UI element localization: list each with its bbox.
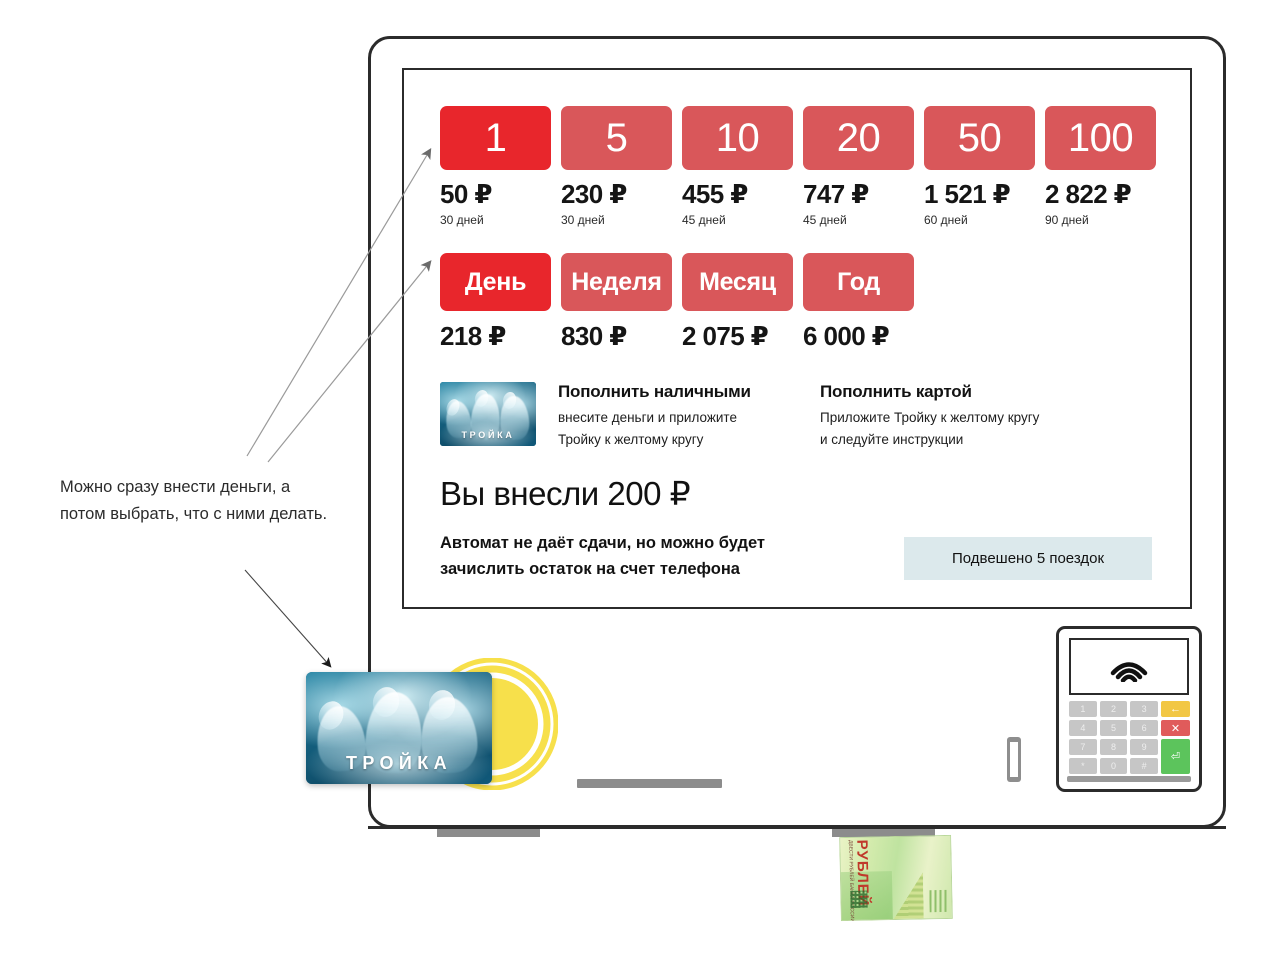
trip-ticket-validity: 60 дней <box>924 213 1045 227</box>
period-ticket-option[interactable]: Год 6 000 ₽ <box>803 253 924 352</box>
trip-ticket-price: 50 ₽ <box>440 179 561 210</box>
topup-card-line1: Приложите Тройку к желтому кругу <box>820 408 1060 428</box>
illustration-canvas: 1 50 ₽ 30 дней 5 230 ₽ 30 дней 10 455 ₽ … <box>0 0 1280 976</box>
keypad-key[interactable]: 3 <box>1130 701 1158 717</box>
keypad-key[interactable]: 0 <box>1100 758 1128 774</box>
topup-cash-title: Пополнить наличными <box>558 382 788 402</box>
notice-line-1: Автомат не даёт сдачи, но можно будет <box>440 530 765 556</box>
enter-key[interactable]: ⏎ <box>1161 739 1190 774</box>
trip-ticket-option[interactable]: 20 747 ₽ 45 дней <box>803 106 924 227</box>
bill-acceptor-slot[interactable] <box>577 779 722 788</box>
trip-ticket-validity: 30 дней <box>440 213 561 227</box>
trip-ticket-price: 230 ₽ <box>561 179 682 210</box>
period-ticket-option[interactable]: Месяц 2 075 ₽ <box>682 253 803 352</box>
topup-instructions: ТРОЙКА Пополнить наличными внесите деньг… <box>440 382 1158 449</box>
period-ticket-button[interactable]: День <box>440 253 551 311</box>
trip-ticket-option[interactable]: 100 2 822 ₽ 90 дней <box>1045 106 1166 227</box>
trip-ticket-option[interactable]: 1 50 ₽ 30 дней <box>440 106 561 227</box>
suspended-trips-badge[interactable]: Подвешено 5 поездок <box>904 537 1152 580</box>
bank-card-slot[interactable] <box>1007 737 1021 782</box>
trip-ticket-button[interactable]: 20 <box>803 106 914 170</box>
trip-ticket-validity: 90 дней <box>1045 213 1166 227</box>
keypad-key[interactable]: 5 <box>1100 720 1128 736</box>
kiosk-screen: 1 50 ₽ 30 дней 5 230 ₽ 30 дней 10 455 ₽ … <box>402 68 1192 609</box>
trip-ticket-price: 747 ₽ <box>803 179 924 210</box>
period-ticket-price: 218 ₽ <box>440 321 561 352</box>
no-change-notice: Автомат не даёт сдачи, но можно будет за… <box>440 530 765 583</box>
trip-ticket-validity: 30 дней <box>561 213 682 227</box>
arrow-to-troika-card <box>245 570 330 666</box>
topup-card-block: Пополнить картой Приложите Тройку к желт… <box>820 382 1060 449</box>
topup-cash-line1: внесите деньги и приложите <box>558 408 788 428</box>
trip-ticket-price: 1 521 ₽ <box>924 179 1045 210</box>
trip-ticket-option[interactable]: 5 230 ₽ 30 дней <box>561 106 682 227</box>
paid-total: Вы внесли 200 ₽ <box>440 474 690 513</box>
trip-ticket-row: 1 50 ₽ 30 дней 5 230 ₽ 30 дней 10 455 ₽ … <box>440 106 1158 227</box>
trip-ticket-button[interactable]: 100 <box>1045 106 1156 170</box>
trip-ticket-option[interactable]: 50 1 521 ₽ 60 дней <box>924 106 1045 227</box>
pin-keypad[interactable]: 1 2 3 4 5 6 7 8 9 * 0 # ← ✕ ⏎ <box>1069 701 1190 774</box>
period-ticket-row: День 218 ₽ Неделя 830 ₽ Месяц 2 075 ₽ Го… <box>440 253 1158 352</box>
topup-card-title: Пополнить картой <box>820 382 1060 402</box>
period-ticket-price: 2 075 ₽ <box>682 321 803 352</box>
trip-ticket-button[interactable]: 50 <box>924 106 1035 170</box>
troika-card[interactable]: ТРОЙКА <box>306 672 492 784</box>
trip-ticket-button[interactable]: 1 <box>440 106 551 170</box>
period-ticket-option[interactable]: День 218 ₽ <box>440 253 561 352</box>
annotation-caption: Можно сразу внести деньги, а потом выбра… <box>60 474 330 527</box>
keypad-key[interactable]: 4 <box>1069 720 1097 736</box>
backspace-key[interactable]: ← <box>1161 701 1190 717</box>
troika-card-label: ТРОЙКА <box>306 753 492 774</box>
trip-ticket-button[interactable]: 5 <box>561 106 672 170</box>
banknote-200-rub: 200 РУБЛЕЙ ДВЕСТИ РУБЛЕЙ БАНКА РОССИИ <box>839 835 953 921</box>
keypad-key[interactable]: 9 <box>1130 739 1158 755</box>
keypad-key[interactable]: 6 <box>1130 720 1158 736</box>
period-ticket-price: 830 ₽ <box>561 321 682 352</box>
keypad-key[interactable]: * <box>1069 758 1097 774</box>
trip-ticket-button[interactable]: 10 <box>682 106 793 170</box>
topup-cash-line2: Тройку к желтому кругу <box>558 430 788 450</box>
troika-card-area: ТРОЙКА <box>306 672 556 797</box>
banknote-word: РУБЛЕЙ ДВЕСТИ РУБЛЕЙ БАНКА РОССИИ <box>847 840 872 922</box>
period-ticket-option[interactable]: Неделя 830 ₽ <box>561 253 682 352</box>
keypad-key[interactable]: # <box>1130 758 1158 774</box>
reader-display <box>1069 638 1189 695</box>
keypad-key[interactable]: 7 <box>1069 739 1097 755</box>
cancel-key[interactable]: ✕ <box>1161 720 1190 736</box>
period-ticket-button[interactable]: Год <box>803 253 914 311</box>
topup-card-line2: и следуйте инструкции <box>820 430 1060 450</box>
troika-wordmark: ТРОЙКА <box>440 430 536 440</box>
troika-card-thumbnail: ТРОЙКА <box>440 382 536 446</box>
trip-ticket-validity: 45 дней <box>803 213 924 227</box>
keypad-key[interactable]: 8 <box>1100 739 1128 755</box>
trip-ticket-price: 455 ₽ <box>682 179 803 210</box>
kiosk-base-foot-left <box>437 829 540 837</box>
trip-ticket-option[interactable]: 10 455 ₽ 45 дней <box>682 106 803 227</box>
reader-base <box>1067 776 1191 782</box>
topup-cash-block: Пополнить наличными внесите деньги и при… <box>558 382 788 449</box>
trip-ticket-price: 2 822 ₽ <box>1045 179 1166 210</box>
card-reader-terminal[interactable]: 1 2 3 4 5 6 7 8 9 * 0 # ← ✕ ⏎ <box>1056 626 1202 792</box>
trip-ticket-validity: 45 дней <box>682 213 803 227</box>
period-ticket-button[interactable]: Неделя <box>561 253 672 311</box>
keypad-key[interactable]: 2 <box>1100 701 1128 717</box>
notice-line-2: зачислить остаток на счет телефона <box>440 556 765 582</box>
period-ticket-button[interactable]: Месяц <box>682 253 793 311</box>
nfc-wave-icon <box>1106 652 1152 682</box>
keypad-key[interactable]: 1 <box>1069 701 1097 717</box>
period-ticket-price: 6 000 ₽ <box>803 321 924 352</box>
